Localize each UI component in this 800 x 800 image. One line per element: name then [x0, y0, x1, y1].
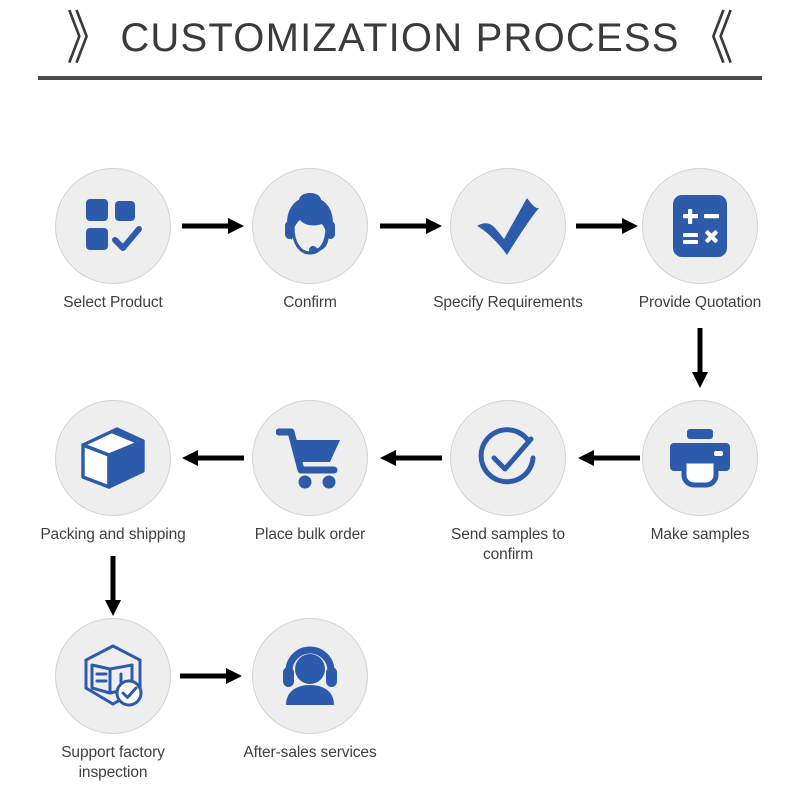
page-title: CUSTOMIZATION PROCESS	[120, 18, 679, 58]
step-support-factory-inspection[interactable]: Support factory inspection	[33, 618, 193, 783]
step-place-bulk-order[interactable]: Place bulk order	[230, 400, 390, 545]
step-label: Packing and shipping	[33, 525, 193, 545]
checkmark-icon	[474, 192, 542, 260]
step-label: Confirm	[230, 293, 390, 313]
step-provide-quotation[interactable]: Provide Quotation	[620, 168, 780, 313]
step-packing-and-shipping[interactable]: Packing and shipping	[33, 400, 193, 545]
step-icon-circle	[450, 400, 566, 516]
step-icon-circle	[450, 168, 566, 284]
step-icon-circle	[55, 400, 171, 516]
customization-process-infographic: 》 CUSTOMIZATION PROCESS 《 Select Product	[0, 0, 800, 800]
step-select-product[interactable]: Select Product	[33, 168, 193, 313]
step-label: Provide Quotation	[620, 293, 780, 313]
shield-inspection-icon	[80, 643, 146, 709]
title-divider	[38, 76, 762, 80]
support-person-icon	[277, 645, 343, 707]
step-send-samples-to-confirm[interactable]: Send samples to confirm	[428, 400, 588, 565]
printer-icon	[668, 427, 732, 489]
step-label: After-sales services	[230, 743, 390, 763]
step-label: Make samples	[620, 525, 780, 545]
step-icon-circle	[642, 400, 758, 516]
title-row: 》 CUSTOMIZATION PROCESS 《	[0, 8, 800, 68]
step-label: Place bulk order	[230, 525, 390, 545]
step-label: Select Product	[33, 293, 193, 313]
step-make-samples[interactable]: Make samples	[620, 400, 780, 545]
step-label: Specify Requirements	[428, 293, 588, 313]
shopping-cart-icon	[276, 426, 344, 490]
step-icon-circle	[252, 168, 368, 284]
calculator-icon	[671, 193, 729, 259]
step-label: Support factory inspection	[33, 743, 193, 783]
headset-agent-icon	[277, 193, 343, 259]
chevron-left-double-icon: 《	[688, 9, 734, 67]
step-icon-circle	[55, 618, 171, 734]
arrow-quotation-to-samples	[690, 328, 710, 390]
package-box-icon	[79, 425, 147, 491]
step-icon-circle	[252, 400, 368, 516]
arrow-packing-to-inspection	[103, 556, 123, 618]
step-confirm[interactable]: Confirm	[230, 168, 390, 313]
page-header: 》 CUSTOMIZATION PROCESS 《	[0, 0, 800, 86]
step-label: Send samples to confirm	[428, 525, 588, 565]
grid-check-icon	[82, 195, 144, 257]
step-icon-circle	[642, 168, 758, 284]
circle-check-icon	[475, 425, 541, 491]
chevron-right-double-icon: 》	[66, 9, 112, 67]
step-icon-circle	[252, 618, 368, 734]
step-after-sales-services[interactable]: After-sales services	[230, 618, 390, 763]
step-icon-circle	[55, 168, 171, 284]
step-specify-requirements[interactable]: Specify Requirements	[428, 168, 588, 313]
